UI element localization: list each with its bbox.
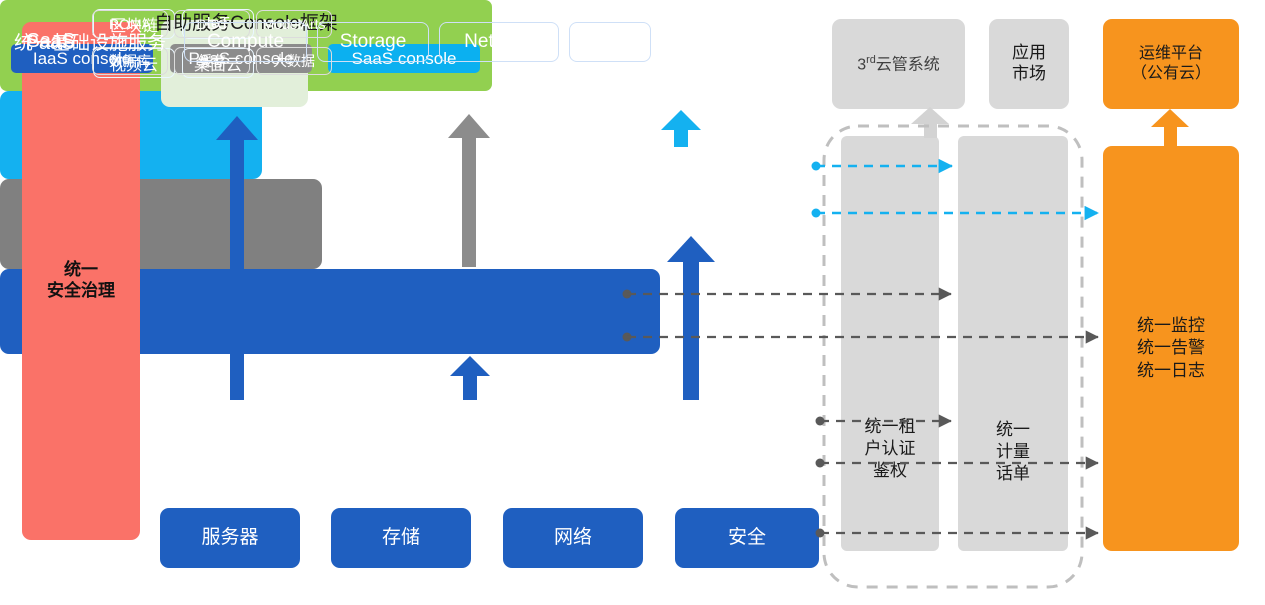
tenant-auth-line-1: 统一租	[841, 416, 939, 438]
arrow-infra-to-paas	[450, 356, 490, 400]
metering-line-1: 统一	[958, 419, 1068, 441]
app-market-line-2: 市场	[1012, 64, 1046, 85]
ops-side-line-2: 统一告警	[1137, 337, 1205, 359]
ops-platform-line-2: （公有云）	[1131, 64, 1211, 84]
security-line-1: 统一	[47, 260, 115, 281]
ops-platform-top-text: 运维平台 （公有云）	[1131, 44, 1211, 83]
ops-side-line-1: 统一监控	[1137, 315, 1205, 337]
app-market-line-1: 应用	[1012, 43, 1046, 64]
infra-tile-cce-label: CCE	[590, 31, 630, 53]
arrow-infra-to-saas	[667, 236, 715, 400]
hardware-box-storage[interactable]: 存储	[331, 508, 471, 568]
arrow-saas-to-saas-console	[661, 110, 701, 147]
ops-side-line-3: 统一日志	[1137, 360, 1205, 382]
app-market-text: 应用 市场	[1012, 43, 1046, 84]
tenant-auth-line-2: 户认证	[841, 438, 939, 460]
unified-tenant-auth-column[interactable]: 统一租 户认证 鉴权	[841, 136, 939, 551]
arrow-paas-to-console	[448, 114, 490, 267]
infra-tile-storage[interactable]: Storage	[317, 22, 429, 62]
infra-tile-compute[interactable]: Compute	[184, 22, 307, 62]
arrow-to-third-party-cloud	[911, 107, 949, 138]
third-party-superscript: rd	[866, 54, 876, 66]
infra-tile-network-label: Network	[464, 31, 534, 53]
ops-platform-side-panel[interactable]: 统一监控 统一告警 统一日志	[1103, 146, 1239, 551]
hardware-server-label: 服务器	[201, 526, 258, 549]
third-party-cloud-mgmt-box[interactable]: 3rd云管系统	[832, 19, 965, 109]
unified-metering-billing-column[interactable]: 统一 计量 话单	[958, 136, 1068, 551]
ops-platform-side-text: 统一监控 统一告警 统一日志	[1137, 315, 1205, 382]
infra-tile-storage-label: Storage	[340, 31, 407, 53]
tenant-auth-line-3: 鉴权	[841, 460, 939, 482]
unified-tenant-auth-text: 统一租 户认证 鉴权	[841, 416, 939, 481]
ops-platform-line-1: 运维平台	[1131, 44, 1211, 64]
metering-line-3: 话单	[958, 463, 1068, 485]
infra-tile-compute-label: Compute	[207, 31, 284, 53]
unified-security-governance-panel[interactable]: 统一 安全治理	[22, 22, 140, 540]
hardware-storage-label: 存储	[382, 526, 420, 549]
hardware-network-label: 网络	[554, 526, 592, 549]
arrow-to-ops-platform	[1151, 109, 1189, 146]
third-party-cloud-mgmt-text: 3rd云管系统	[857, 54, 940, 75]
app-market-box[interactable]: 应用 市场	[989, 19, 1069, 109]
security-line-2: 安全治理	[47, 281, 115, 302]
architecture-diagram: 统一 安全治理 API网关 自助服务Console框架 IaaS console…	[0, 0, 1265, 605]
hardware-box-network[interactable]: 网络	[503, 508, 643, 568]
hardware-box-server[interactable]: 服务器	[160, 508, 300, 568]
third-party-suffix: 云管系统	[876, 56, 940, 73]
infra-tile-network[interactable]: Network	[439, 22, 559, 62]
unified-infrastructure-label: 统一基础设施服务	[14, 28, 166, 55]
unified-security-governance-text: 统一 安全治理	[47, 260, 115, 301]
hardware-security-label: 安全	[728, 526, 766, 549]
third-party-prefix: 3	[857, 56, 866, 73]
metering-line-2: 计量	[958, 441, 1068, 463]
hardware-box-security[interactable]: 安全	[675, 508, 819, 568]
unified-metering-billing-text: 统一 计量 话单	[958, 419, 1068, 484]
ops-platform-top-box[interactable]: 运维平台 （公有云）	[1103, 19, 1239, 109]
infra-tile-cce[interactable]: CCE	[569, 22, 651, 62]
